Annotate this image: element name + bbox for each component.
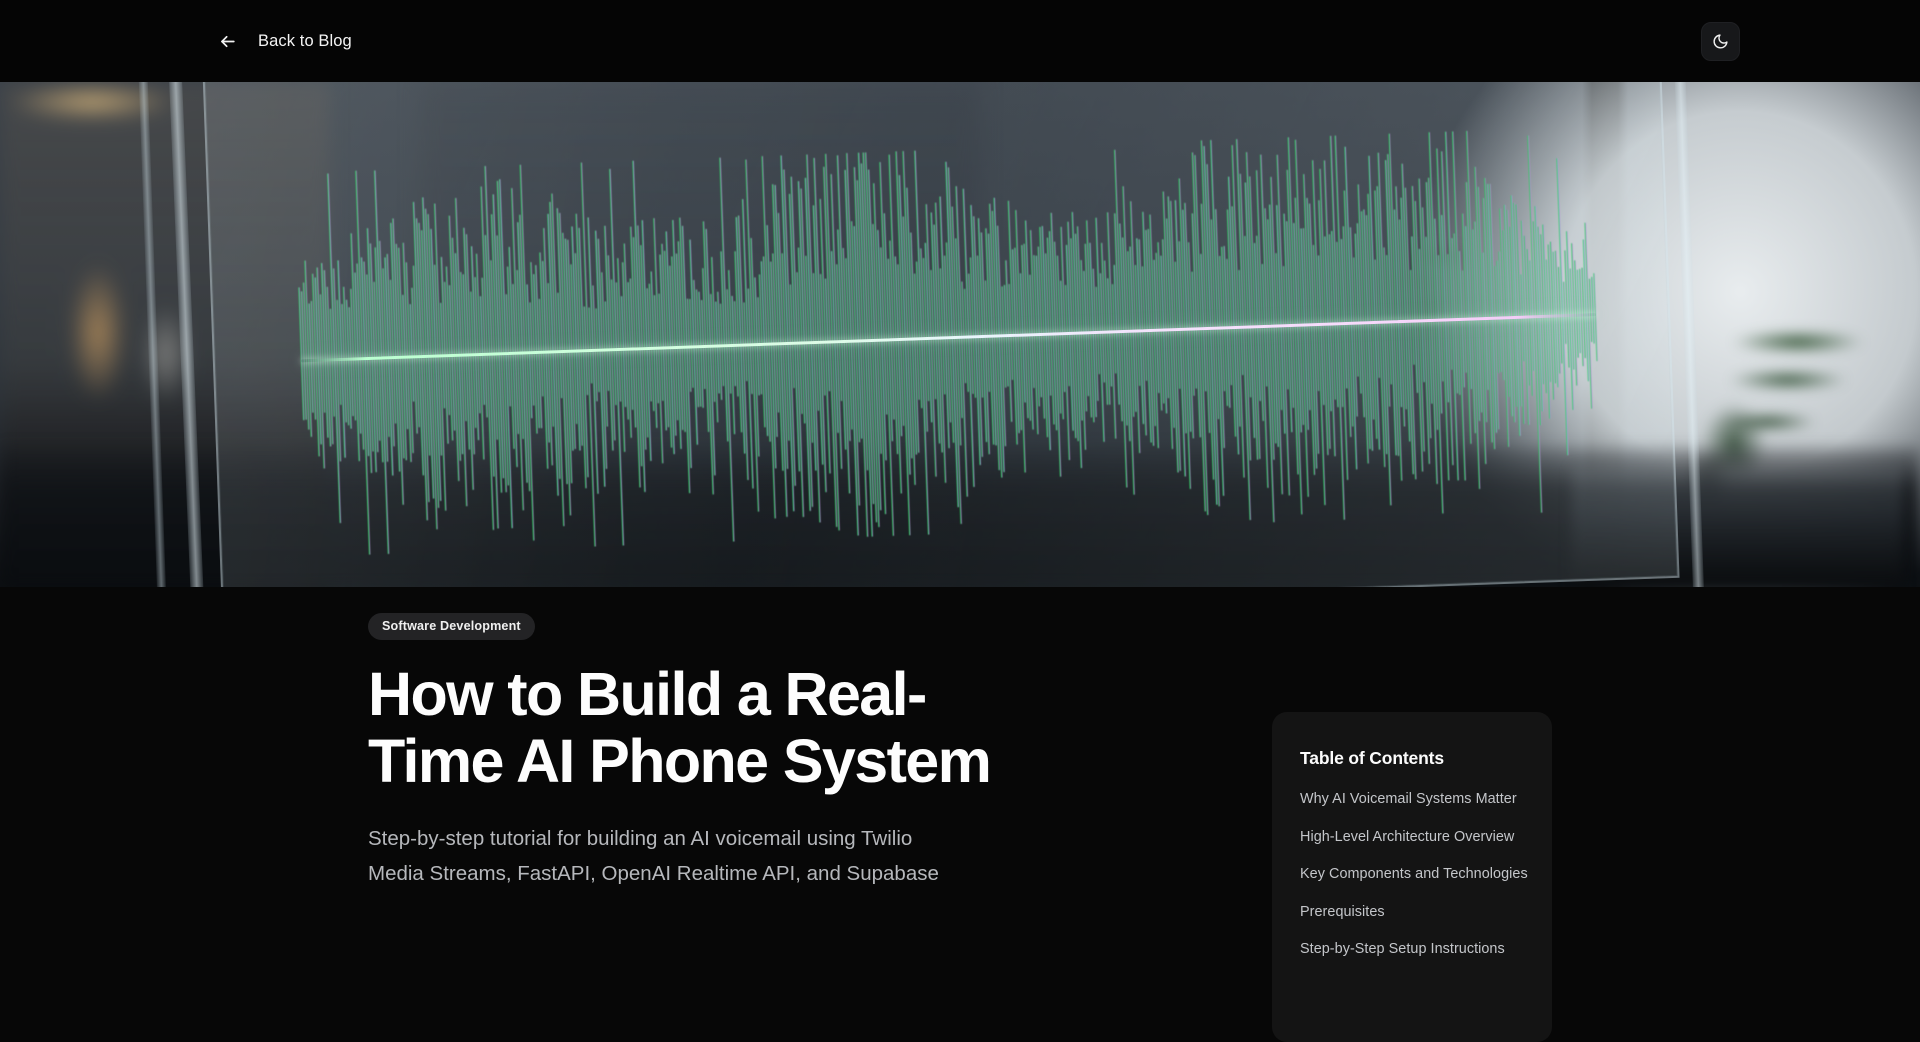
toc-link-prerequisites[interactable]: Prerequisites xyxy=(1300,904,1524,920)
audio-waveform xyxy=(294,119,1603,557)
arrow-left-icon xyxy=(218,32,237,51)
glass-display-panel xyxy=(202,82,1679,587)
page-title: How to Build a Real-Time AI Phone System xyxy=(368,661,1008,795)
article-subtitle: Step-by-step tutorial for building an AI… xyxy=(368,822,968,891)
article-main-column: Software Development How to Build a Real… xyxy=(368,587,1128,891)
toc-link-high-level-architecture-overview[interactable]: High-Level Architecture Overview xyxy=(1300,829,1524,845)
list-item: Why AI Voicemail Systems Matter xyxy=(1300,791,1524,807)
top-navigation-bar: Back to Blog xyxy=(0,0,1920,82)
list-item: Step-by-Step Setup Instructions xyxy=(1300,941,1524,957)
article-section: Software Development How to Build a Real… xyxy=(0,587,1920,993)
toc-link-why-ai-voicemail-systems-matter[interactable]: Why AI Voicemail Systems Matter xyxy=(1300,791,1524,807)
back-to-blog-link[interactable]: Back to Blog xyxy=(218,32,352,51)
hero-scene xyxy=(0,82,1920,587)
list-item: Key Components and Technologies xyxy=(1300,866,1524,882)
list-item: Prerequisites xyxy=(1300,904,1524,920)
back-to-blog-label: Back to Blog xyxy=(258,32,352,51)
hero-banner-image xyxy=(0,82,1920,587)
table-of-contents-heading: Table of Contents xyxy=(1300,748,1524,769)
category-badge[interactable]: Software Development xyxy=(368,613,535,640)
toc-link-key-components-and-technologies[interactable]: Key Components and Technologies xyxy=(1300,866,1524,882)
theme-toggle-button[interactable] xyxy=(1701,22,1740,61)
moon-icon xyxy=(1712,33,1729,50)
table-of-contents-list: Why AI Voicemail Systems Matter High-Lev… xyxy=(1300,791,1524,957)
list-item: High-Level Architecture Overview xyxy=(1300,829,1524,845)
toc-link-step-by-step-setup-instructions[interactable]: Step-by-Step Setup Instructions xyxy=(1300,941,1524,957)
